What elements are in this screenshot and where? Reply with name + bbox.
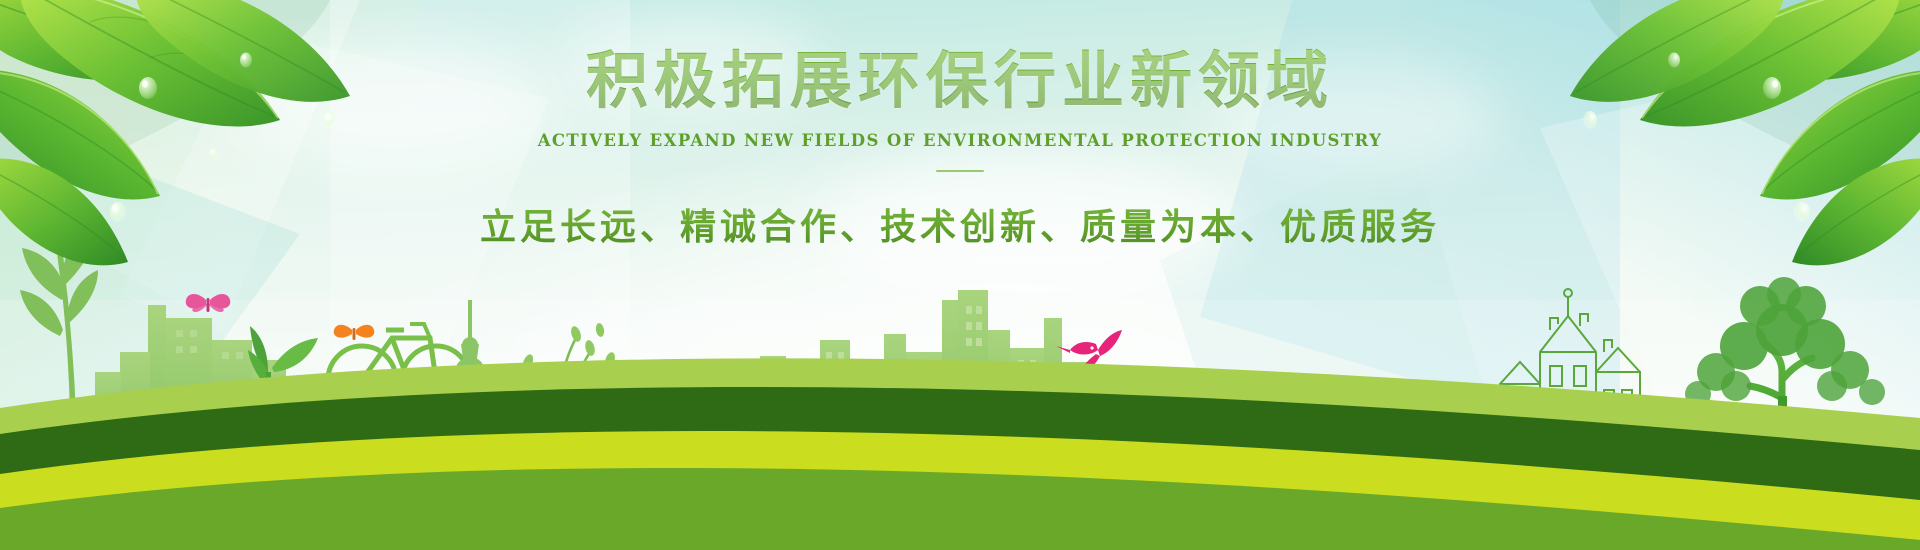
water-droplet [1668,53,1680,68]
water-droplet [323,111,337,129]
water-droplet [110,202,126,222]
water-droplet [1794,202,1810,222]
leaf-cluster-top-right [1570,0,1920,265]
water-droplet [209,148,219,160]
leaf-decorations [0,0,1920,550]
water-droplet [1763,77,1781,99]
water-droplet [240,53,252,68]
eco-banner: 积极拓展环保行业新领域 ACTIVELY EXPAND NEW FIELDS O… [0,0,1920,550]
leaf-cluster-top-left [0,0,350,265]
water-droplet [1583,111,1597,129]
water-droplet [139,77,157,99]
